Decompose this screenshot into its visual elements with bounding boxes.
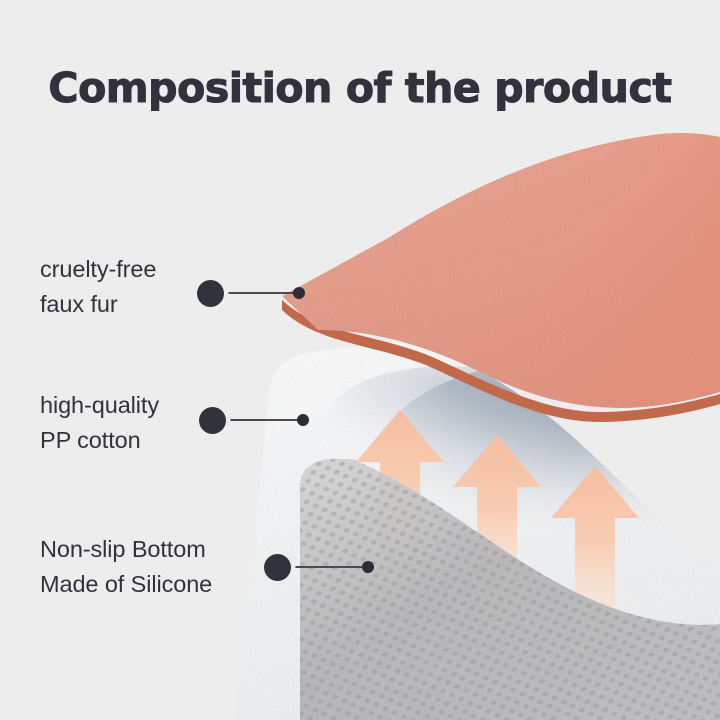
callout-silicone-target-dot[interactable] xyxy=(362,561,374,573)
callout-faux-fur-anchor-dot[interactable] xyxy=(197,280,224,307)
callout-silicone-line1: Non-slip Bottom xyxy=(40,532,212,567)
callout-faux-fur-line1: cruelty-free xyxy=(40,252,156,287)
infographic-canvas: Composition of the product cruelty-free … xyxy=(0,0,720,720)
page-title: Composition of the product xyxy=(0,64,720,112)
callout-pp-cotton-target-dot[interactable] xyxy=(297,414,309,426)
callout-pp-cotton-line2: PP cotton xyxy=(40,423,159,458)
callout-silicone-anchor-dot[interactable] xyxy=(264,554,291,581)
callout-faux-fur-line2: faux fur xyxy=(40,287,156,322)
callout-pp-cotton-line1: high-quality xyxy=(40,388,159,423)
callout-pp-cotton-anchor-dot[interactable] xyxy=(199,407,226,434)
callout-silicone-line2: Made of Silicone xyxy=(40,567,212,602)
callout-faux-fur-target-dot[interactable] xyxy=(293,287,305,299)
